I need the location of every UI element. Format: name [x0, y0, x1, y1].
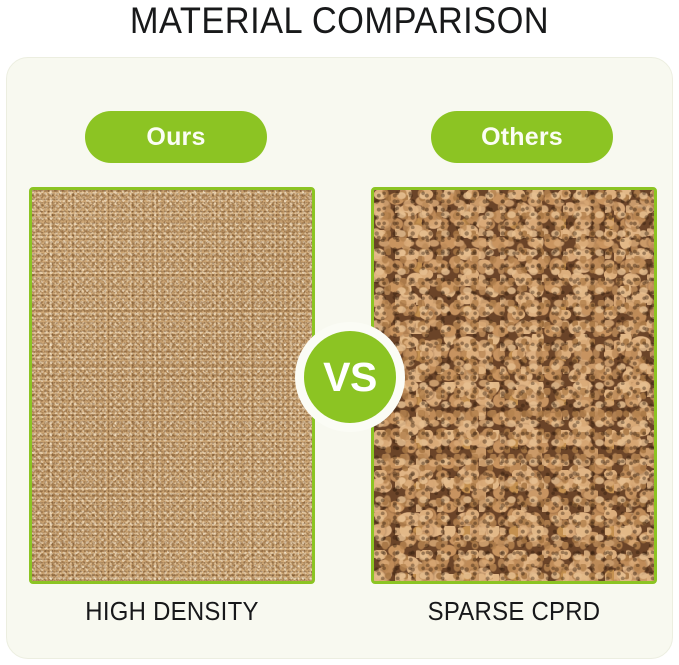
pill-others: Others	[431, 111, 613, 163]
caption-row: HIGH DENSITY SPARSE CPRD	[7, 596, 672, 636]
caption-others: SPARSE CPRD	[382, 596, 645, 627]
pill-ours: Ours	[85, 111, 267, 163]
page-title: MATERIAL COMPARISON	[24, 0, 655, 42]
pill-row: Ours Others	[7, 111, 672, 165]
material-panel-others	[371, 187, 657, 584]
coarse-cork-texture	[374, 190, 654, 581]
fine-cork-texture	[32, 190, 312, 581]
caption-ours: HIGH DENSITY	[40, 596, 303, 627]
vs-badge-label: VS	[304, 331, 396, 423]
comparison-card: Ours Others VS HIGH DENSITY SPARSE CPRD	[6, 57, 673, 659]
vs-badge: VS	[295, 322, 405, 432]
material-panel-ours	[29, 187, 315, 584]
